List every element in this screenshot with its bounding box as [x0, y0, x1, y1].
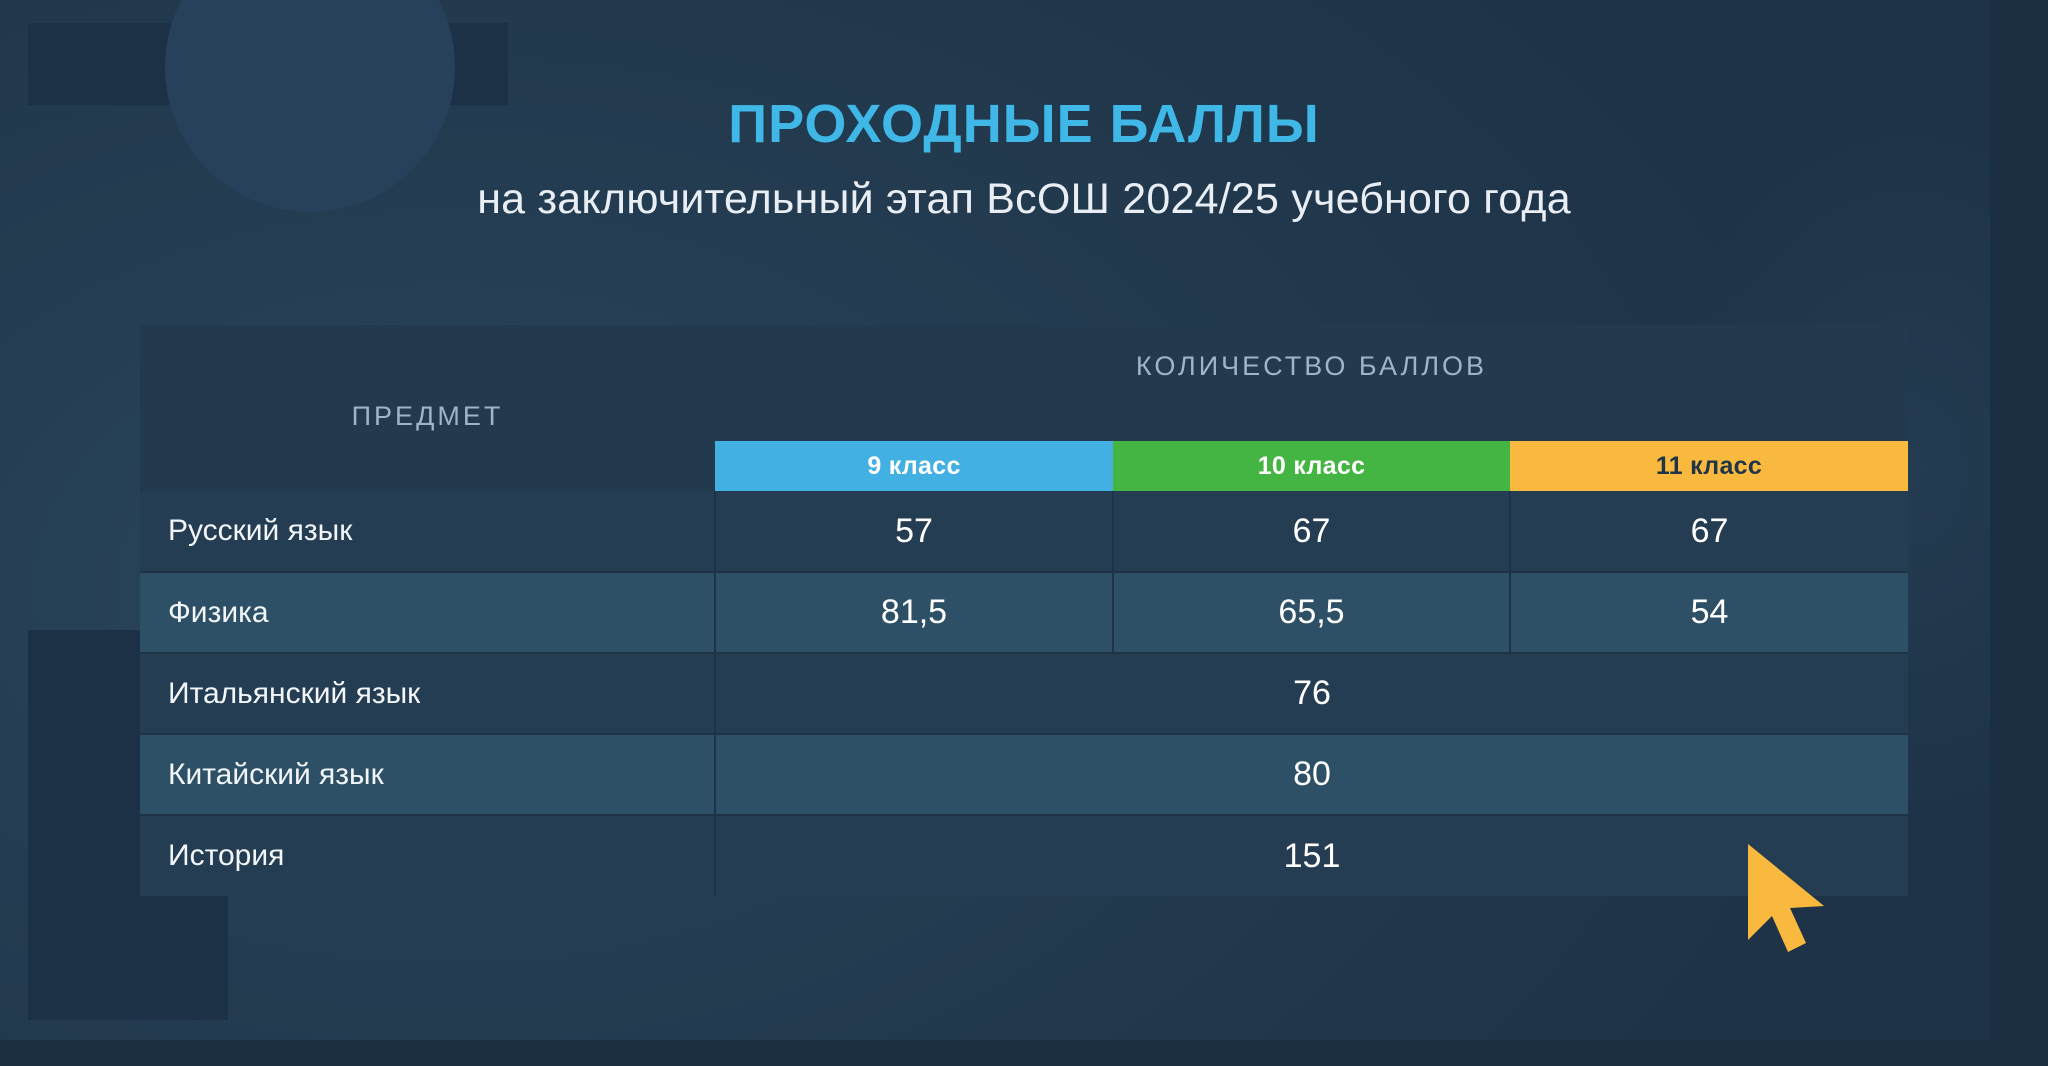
- title-block: ПРОХОДНЫЕ БАЛЛЫ на заключительный этап В…: [0, 96, 2048, 224]
- cell-score-all-grades: 80: [715, 734, 1908, 815]
- page-title: ПРОХОДНЫЕ БАЛЛЫ: [0, 96, 2048, 153]
- scores-table-container: ПРЕДМЕТ КОЛИЧЕСТВО БАЛЛОВ 9 класс 10 кла…: [140, 325, 1908, 912]
- column-header-grade-11[interactable]: 11 класс: [1510, 441, 1908, 491]
- mouse-cursor-icon: [1742, 840, 1832, 956]
- page-subtitle: на заключительный этап ВсОШ 2024/25 учеб…: [0, 175, 2048, 224]
- cell-subject: Физика: [140, 572, 715, 653]
- column-header-grade-10[interactable]: 10 класс: [1113, 441, 1510, 491]
- cell-subject: Русский язык: [140, 491, 715, 572]
- cell-score-grade-11: 54: [1510, 572, 1908, 653]
- column-header-scores: КОЛИЧЕСТВО БАЛЛОВ: [715, 325, 1908, 441]
- cell-score-grade-9: 57: [715, 491, 1113, 572]
- table-row: Русский язык 57 67 67: [140, 491, 1908, 572]
- cell-subject: Итальянский язык: [140, 653, 715, 734]
- scores-table: ПРЕДМЕТ КОЛИЧЕСТВО БАЛЛОВ 9 класс 10 кла…: [140, 325, 1908, 896]
- table-head: ПРЕДМЕТ КОЛИЧЕСТВО БАЛЛОВ 9 класс 10 кла…: [140, 325, 1908, 491]
- table-row: Итальянский язык 76: [140, 653, 1908, 734]
- table-row: История 151: [140, 815, 1908, 896]
- column-header-subject: ПРЕДМЕТ: [140, 325, 715, 491]
- table-row: Китайский язык 80: [140, 734, 1908, 815]
- cell-score-grade-11: 67: [1510, 491, 1908, 572]
- slide-canvas: ПРОХОДНЫЕ БАЛЛЫ на заключительный этап В…: [0, 0, 2048, 1066]
- decorative-band-top: [28, 23, 508, 105]
- cell-subject: Китайский язык: [140, 734, 715, 815]
- cell-subject: История: [140, 815, 715, 896]
- cell-score-grade-9: 81,5: [715, 572, 1113, 653]
- column-header-grade-9[interactable]: 9 класс: [715, 441, 1113, 491]
- cell-score-all-grades: 151: [715, 815, 1908, 896]
- cell-score-grade-10: 65,5: [1113, 572, 1510, 653]
- table-head-row-groups: ПРЕДМЕТ КОЛИЧЕСТВО БАЛЛОВ: [140, 325, 1908, 441]
- decorative-bar-bottom: [0, 1040, 2048, 1066]
- table-body: Русский язык 57 67 67 Физика 81,5 65,5 5…: [140, 491, 1908, 896]
- table-row: Физика 81,5 65,5 54: [140, 572, 1908, 653]
- cell-score-grade-10: 67: [1113, 491, 1510, 572]
- cell-score-all-grades: 76: [715, 653, 1908, 734]
